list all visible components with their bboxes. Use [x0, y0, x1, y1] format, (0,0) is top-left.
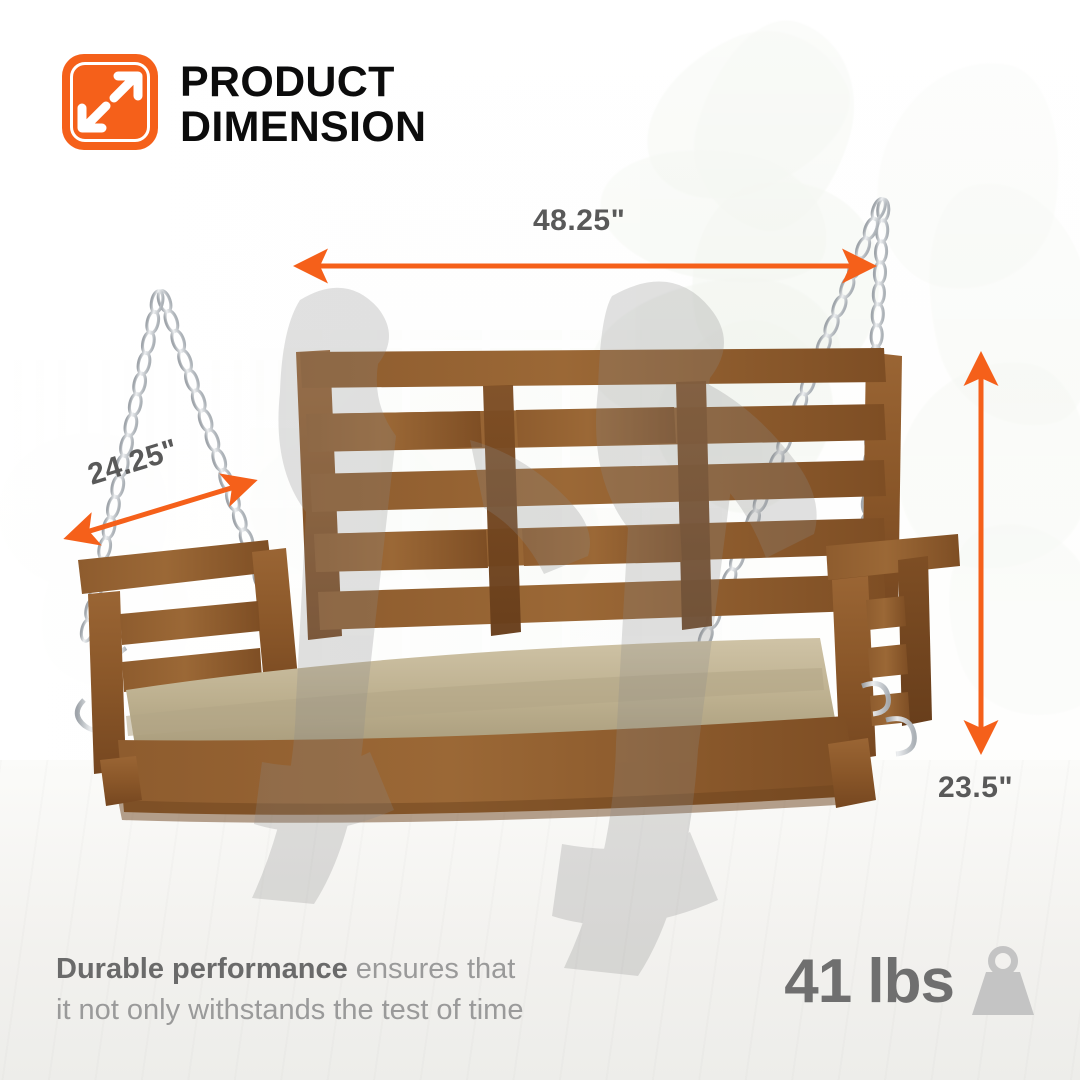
footer-rest-text: ensures that — [348, 953, 516, 985]
footer-line-2: it not only withstands the test of time — [56, 994, 523, 1026]
weight-block-icon — [964, 945, 1042, 1019]
expand-arrows-icon — [62, 54, 158, 150]
header: PRODUCTDIMENSION — [62, 54, 426, 150]
weight-value: 41 lbs — [784, 951, 954, 1013]
porch-swing-illustration — [0, 0, 1080, 1080]
width-dimension-label: 48.25" — [533, 204, 625, 238]
infographic-canvas: PRODUCTDIMENSION 48.25" 24.25" 23.5" Dur… — [0, 0, 1080, 1080]
page-title: PRODUCTDIMENSION — [180, 54, 426, 149]
weight-badge: 41 lbs — [784, 945, 1042, 1019]
height-dimension-label: 23.5" — [938, 771, 1013, 805]
footer-bold-text: Durable performance — [56, 953, 348, 985]
scale-silhouettes — [252, 282, 817, 976]
title-line-1: PRODUCT — [180, 58, 395, 106]
title-line-2: DIMENSION — [180, 103, 426, 151]
footer-description: Durable performance ensures that it not … — [56, 949, 523, 1031]
